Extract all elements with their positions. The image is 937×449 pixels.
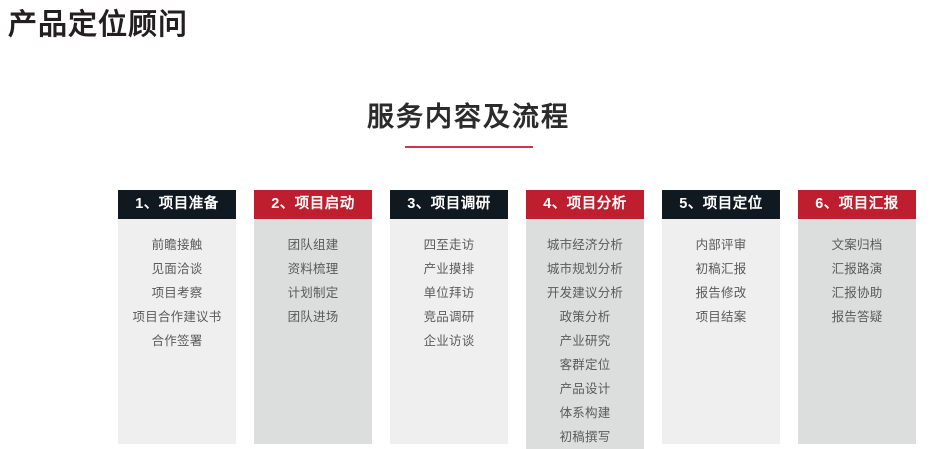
process-item: 城市规划分析 — [526, 257, 644, 281]
process-column-body-4: 城市经济分析城市规划分析开发建议分析政策分析产业研究客群定位产品设计体系构建初稿… — [526, 219, 644, 449]
process-columns: 1、项目准备前瞻接触见面洽谈项目考察项目合作建议书合作签署2、项目启动团队组建资… — [118, 190, 930, 444]
process-item: 初稿汇报 — [662, 257, 780, 281]
process-item: 政策分析 — [526, 305, 644, 329]
process-column-header-5[interactable]: 5、项目定位 — [662, 190, 780, 219]
process-item: 体系构建 — [526, 401, 644, 425]
process-item: 产业研究 — [526, 329, 644, 353]
process-item: 四至走访 — [390, 233, 508, 257]
process-column-4: 4、项目分析城市经济分析城市规划分析开发建议分析政策分析产业研究客群定位产品设计… — [526, 190, 644, 444]
process-item: 合作签署 — [118, 329, 236, 353]
process-item: 文案归档 — [798, 233, 916, 257]
process-item: 汇报路演 — [798, 257, 916, 281]
process-column-5: 5、项目定位内部评审初稿汇报报告修改项目结案 — [662, 190, 780, 444]
process-item: 汇报协助 — [798, 281, 916, 305]
page-title: 产品定位顾问 — [8, 6, 188, 44]
process-item: 项目考察 — [118, 281, 236, 305]
section-heading-underline — [405, 146, 533, 148]
process-item: 项目结案 — [662, 305, 780, 329]
process-item: 团队组建 — [254, 233, 372, 257]
process-item: 团队进场 — [254, 305, 372, 329]
process-column-header-1[interactable]: 1、项目准备 — [118, 190, 236, 219]
process-column-header-6[interactable]: 6、项目汇报 — [798, 190, 916, 219]
process-column-2: 2、项目启动团队组建资料梳理计划制定团队进场 — [254, 190, 372, 444]
process-item: 项目合作建议书 — [118, 305, 236, 329]
process-item: 报告答疑 — [798, 305, 916, 329]
process-item: 计划制定 — [254, 281, 372, 305]
process-item: 产业摸排 — [390, 257, 508, 281]
process-item: 企业访谈 — [390, 329, 508, 353]
section-heading-block: 服务内容及流程 — [0, 100, 937, 148]
process-item: 竞品调研 — [390, 305, 508, 329]
process-item: 见面洽谈 — [118, 257, 236, 281]
process-column-body-6: 文案归档汇报路演汇报协助报告答疑 — [798, 219, 916, 444]
process-column-6: 6、项目汇报文案归档汇报路演汇报协助报告答疑 — [798, 190, 916, 444]
process-item: 开发建议分析 — [526, 281, 644, 305]
process-column-header-4[interactable]: 4、项目分析 — [526, 190, 644, 219]
process-column-1: 1、项目准备前瞻接触见面洽谈项目考察项目合作建议书合作签署 — [118, 190, 236, 444]
process-item: 产品设计 — [526, 377, 644, 401]
process-item: 前瞻接触 — [118, 233, 236, 257]
process-item: 城市经济分析 — [526, 233, 644, 257]
process-item: 资料梳理 — [254, 257, 372, 281]
process-item: 内部评审 — [662, 233, 780, 257]
process-column-body-5: 内部评审初稿汇报报告修改项目结案 — [662, 219, 780, 444]
process-column-header-3[interactable]: 3、项目调研 — [390, 190, 508, 219]
process-item: 单位拜访 — [390, 281, 508, 305]
process-column-body-1: 前瞻接触见面洽谈项目考察项目合作建议书合作签署 — [118, 219, 236, 444]
process-column-body-3: 四至走访产业摸排单位拜访竞品调研企业访谈 — [390, 219, 508, 444]
process-item: 初稿撰写 — [526, 425, 644, 449]
process-column-body-2: 团队组建资料梳理计划制定团队进场 — [254, 219, 372, 444]
process-item: 客群定位 — [526, 353, 644, 377]
process-item: 报告修改 — [662, 281, 780, 305]
process-column-header-2[interactable]: 2、项目启动 — [254, 190, 372, 219]
section-heading: 服务内容及流程 — [0, 100, 937, 134]
process-column-3: 3、项目调研四至走访产业摸排单位拜访竞品调研企业访谈 — [390, 190, 508, 444]
